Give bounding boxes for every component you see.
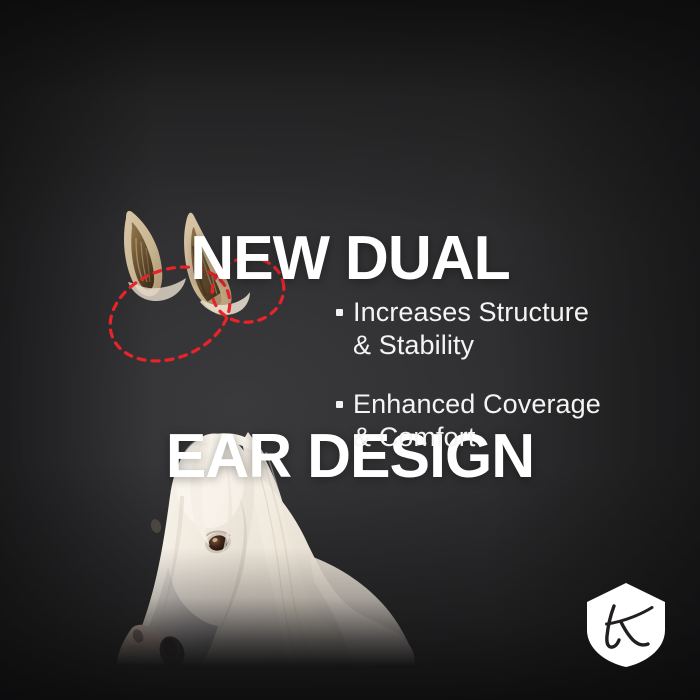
- shield-icon: [587, 583, 665, 667]
- brand-logo: [584, 582, 668, 668]
- feature-list: Increases Structure & Stability Enhanced…: [336, 296, 666, 454]
- promo-graphic: NEW DUAL EAR DESIGN Increases Structure …: [0, 0, 700, 700]
- bullet-2-line-1: Enhanced Coverage: [353, 388, 601, 421]
- square-bullet-icon: [336, 309, 343, 316]
- headline-line-1: NEW DUAL: [7, 226, 693, 292]
- list-item: Enhanced Coverage & Comfort: [336, 388, 666, 454]
- bullet-2-line-2: & Comfort: [353, 421, 475, 454]
- list-item: Increases Structure & Stability: [336, 296, 666, 362]
- square-bullet-icon: [336, 401, 343, 408]
- bullet-1-line-2: & Stability: [353, 329, 474, 362]
- bullet-1-line-1: Increases Structure: [353, 296, 589, 329]
